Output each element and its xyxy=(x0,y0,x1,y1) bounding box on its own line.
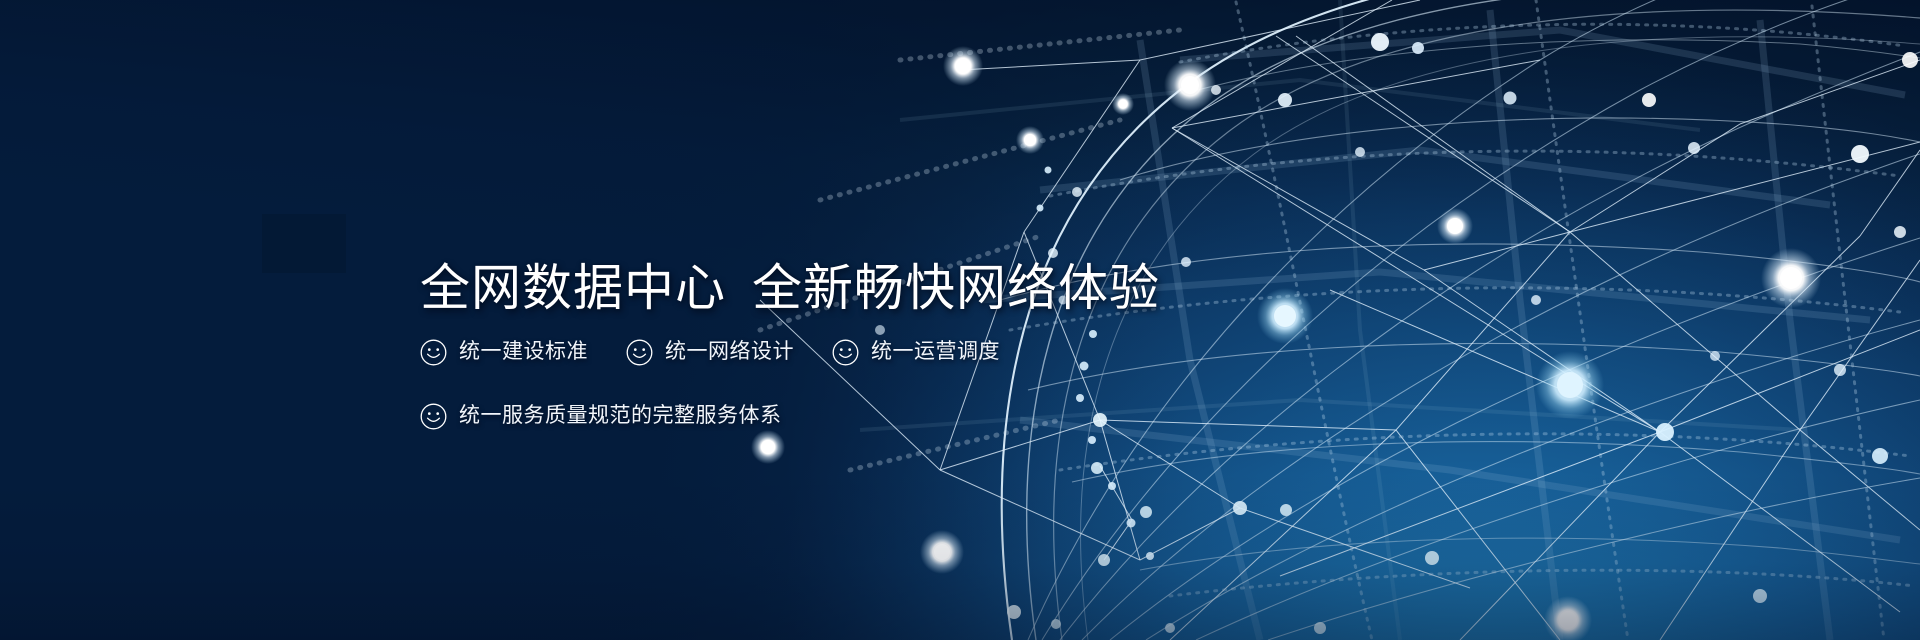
feature-item-label: 统一网络设计 xyxy=(665,339,794,365)
feature-item-unified-construction-standard[interactable]: 统一建设标准 xyxy=(420,339,588,366)
feature-item-unified-operation-scheduling[interactable]: 统一运营调度 xyxy=(832,339,1000,366)
feature-row-1: 统一建设标准 统一网络设计 xyxy=(420,332,1000,372)
smiley-face-icon xyxy=(626,339,653,366)
banner-content: 全网数据中心全新畅快网络体验 统一建设标准 xyxy=(420,0,1220,640)
headline-part-1: 全网数据中心 xyxy=(420,260,726,316)
feature-item-label: 统一服务质量规范的完整服务体系 xyxy=(459,403,782,429)
feature-item-unified-network-design[interactable]: 统一网络设计 xyxy=(626,339,794,366)
feature-item-label: 统一运营调度 xyxy=(871,339,1000,365)
feature-item-unified-service-quality-system[interactable]: 统一服务质量规范的完整服务体系 xyxy=(420,403,782,430)
page-title: 全网数据中心全新畅快网络体验 xyxy=(420,259,1160,317)
headline-part-2: 全新畅快网络体验 xyxy=(752,260,1160,316)
smiley-face-icon xyxy=(832,339,859,366)
feature-row-2: 统一服务质量规范的完整服务体系 xyxy=(420,396,1000,436)
smiley-face-icon xyxy=(420,339,447,366)
hero-banner: 全网数据中心全新畅快网络体验 统一建设标准 xyxy=(0,0,1920,640)
feature-item-label: 统一建设标准 xyxy=(459,339,588,365)
smiley-face-icon xyxy=(420,403,447,430)
feature-list: 统一建设标准 统一网络设计 xyxy=(420,332,1000,436)
